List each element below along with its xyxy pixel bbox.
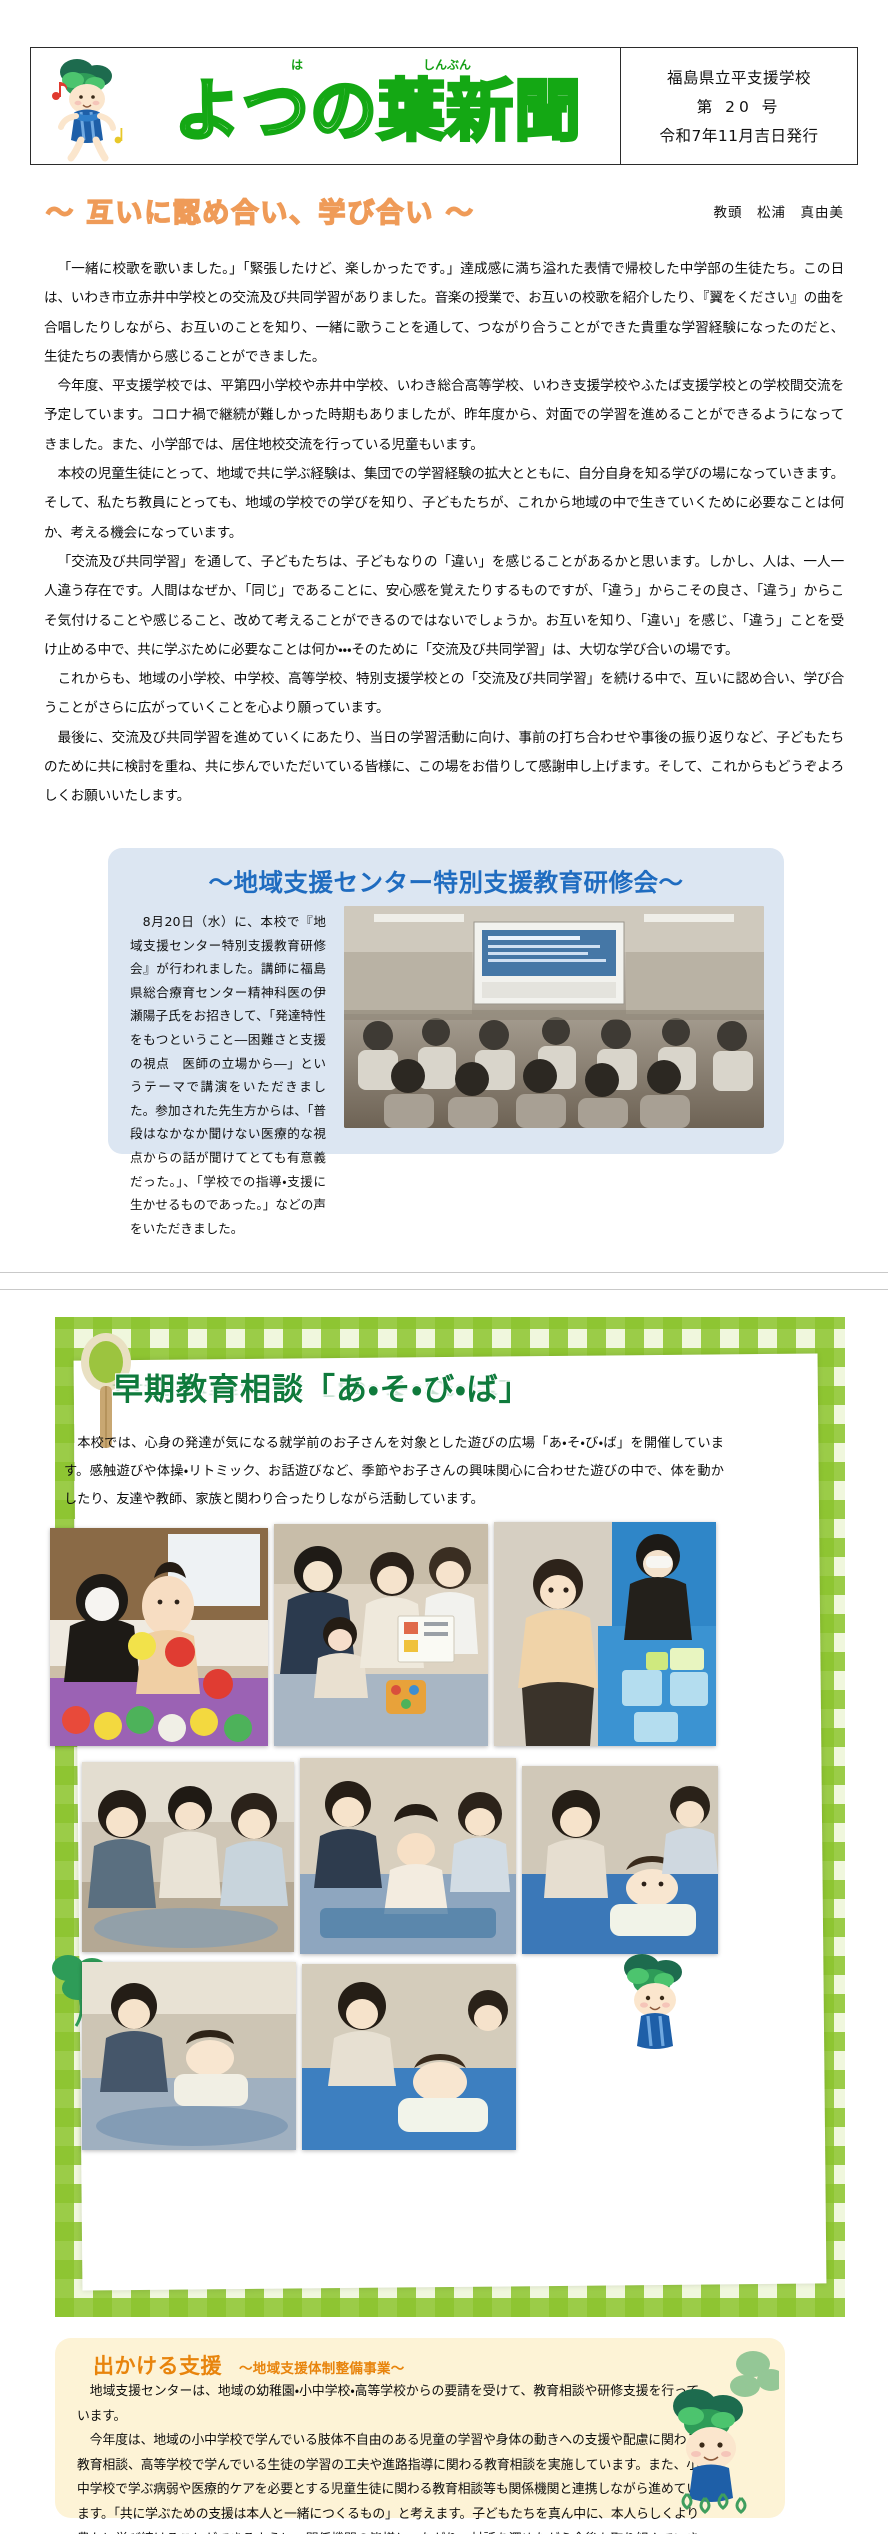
workshop-panel: 〜地域支援センター特別支援教育研修会〜 8月20日（水）に、本校で『地域支援セン… (108, 848, 784, 1154)
article-byline: 教頭 松浦 真由美 (714, 201, 845, 221)
mat-group-photo (302, 1964, 516, 2150)
page-two: 早期教育相談「あ・そ・び・ば」 早期教育相談「あ・そ・び・ば」 本校では、心身の… (0, 1290, 888, 2534)
lecture-hall-photo (344, 906, 764, 1128)
masthead-info-box: 福島県立平支援学校 第 20 号 令和7年11月吉日発行 (621, 48, 857, 164)
clover-kid-mascot-icon (608, 1946, 704, 2050)
group-play-photo (82, 1762, 294, 1952)
water-play-photo (494, 1522, 716, 1746)
asobiba-title: 早期教育相談「あ・そ・び・ば」 (112, 1364, 531, 1409)
article-paragraph: 「交流及び共同学習」を通して、子どもたちは、子どもなりの「違い」を感じることがあ… (44, 548, 844, 665)
outreach-paragraph: 地域支援センターは、地域の幼稚園・小中学校・高等学校からの要請を受けて、教育相談… (77, 2380, 699, 2429)
article-paragraph: 本校の児童生徒にとって、地域で共に学ぶ経験は、集団での学習経験の拡大とともに、自… (44, 460, 844, 548)
ball-pool-play-photo (50, 1528, 268, 1746)
newsletter-page: は しんぶん よつの葉新聞 福島県立平支援学校 第 20 号 令和7年11月吉日… (0, 0, 888, 2534)
publish-date: 令和7年11月吉日発行 (659, 124, 818, 146)
outreach-body: 地域支援センターは、地域の幼稚園・小中学校・高等学校からの要請を受けて、教育相談… (77, 2380, 699, 2534)
page-divider (0, 1272, 888, 1290)
picture-book-reading-photo (274, 1524, 488, 1746)
article-paragraph: これからも、地域の小学校、中学校、高等学校、特別支援学校との「交流及び共同学習」… (44, 665, 844, 724)
outreach-title: 出かける支援 (93, 2350, 222, 2380)
paper-title: よつの葉新聞 (143, 64, 613, 158)
outreach-panel: 出かける支援 〜地域支援体制整備事業〜 地域支援センターは、地域の幼稚園・小中学… (55, 2338, 785, 2518)
issue-number: 第 20 号 (697, 95, 782, 117)
page-one: は しんぶん よつの葉新聞 福島県立平支援学校 第 20 号 令和7年11月吉日… (0, 0, 888, 1272)
clover-boy-corner-mascot-icon (649, 2344, 779, 2514)
article-paragraph: 「一緒に校歌を歌いました。」「緊張したけど、楽しかったです。」達成感に満ち溢れた… (44, 255, 844, 372)
masthead: は しんぶん よつの葉新聞 福島県立平支援学校 第 20 号 令和7年11月吉日… (30, 47, 858, 165)
workshop-title: 〜地域支援センター特別支援教育研修会〜 (108, 864, 784, 899)
school-name: 福島県立平支援学校 (667, 66, 811, 88)
article-paragraph: 最後に、交流及び共同学習を進めていくにあたり、当日の学習活動に向け、事前の打ち合… (44, 724, 844, 812)
clover-boy-mascot-icon (43, 52, 139, 164)
baby-mat-play-photo (522, 1766, 718, 1954)
outdoor-play-photo (82, 1962, 296, 2150)
masthead-title-area: は しんぶん よつの葉新聞 (31, 48, 621, 164)
asobiba-photo-collage (38, 1522, 728, 2182)
workshop-body: 8月20日（水）に、本校で『地域支援センター特別支援教育研修会』が行われました。… (130, 910, 326, 1240)
article-paragraph: 今年度、平支援学校では、平第四小学校や赤井中学校、いわき総合高等学校、いわき支援… (44, 372, 844, 460)
title-wrap: は しんぶん よつの葉新聞 (143, 54, 613, 162)
floor-activity-photo (300, 1758, 516, 1954)
outreach-subtitle: 〜地域支援体制整備事業〜 (239, 2357, 405, 2377)
outreach-paragraph: 今年度は、地域の小中学校で学んでいる肢体不自由のある児童の学習や身体の動きへの支… (77, 2429, 699, 2534)
article-headline: 〜 互いに認め合い、学び合い 〜 (46, 191, 475, 230)
article-body: 「一緒に校歌を歌いました。」「緊張したけど、楽しかったです。」達成感に満ち溢れた… (44, 255, 844, 812)
asobiba-body: 本校では、心身の発達が気になる就学前のお子さんを対象とした遊びの広場「あ・そ・び… (64, 1430, 724, 1514)
